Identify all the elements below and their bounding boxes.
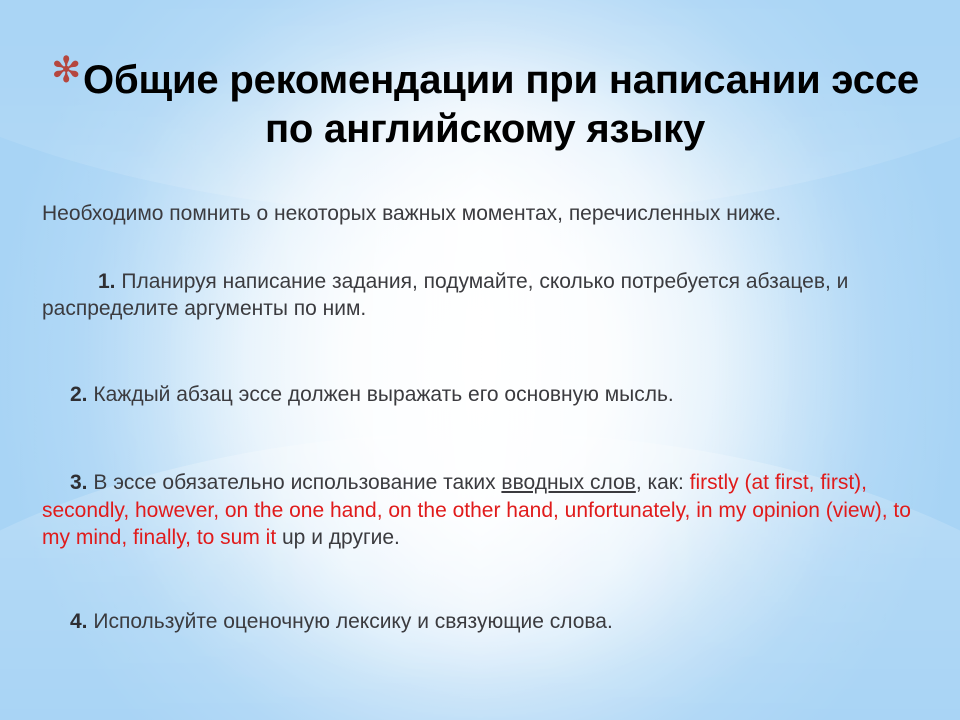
intro-paragraph: Необходимо помнить о некоторых важных мо… [42, 200, 918, 228]
item-3-tail-text: up и другие. [276, 526, 400, 549]
slide-body: Необходимо помнить о некоторых важных мо… [42, 200, 918, 636]
spacer-after-item-3 [42, 552, 918, 608]
list-item-2: 2. Каждый абзац эссе должен выражать его… [42, 381, 918, 409]
title-line-1: Общие рекомендации при написании эссе [83, 58, 919, 102]
item-3-number: 3. [70, 471, 88, 494]
item-3-mid-text: , как: [636, 471, 690, 494]
item-4-text: Используйте оценочную лексику и связующи… [93, 610, 612, 633]
slide-title: ✻Общие рекомендации при написании эссе п… [40, 52, 930, 155]
item-2-text: Каждый абзац эссе должен выражать его ос… [93, 383, 673, 406]
title-line-1-wrapper: ✻Общие рекомендации при написании эссе [40, 52, 930, 105]
spacer-after-item-2 [42, 409, 918, 469]
item-3-underlined-term: вводных слов [501, 471, 635, 494]
item-1-number: 1. [98, 270, 116, 293]
title-line-2: по английскому языку [40, 105, 930, 155]
item-1-text: Планируя написание задания, подумайте, с… [42, 270, 848, 321]
asterisk-bullet-icon: ✻ [51, 52, 81, 88]
presentation-slide: ✻Общие рекомендации при написании эссе п… [0, 0, 960, 720]
item-2-number: 2. [70, 383, 88, 406]
spacer-after-item-1 [42, 323, 918, 381]
list-item-4: 4. Используйте оценочную лексику и связу… [42, 608, 918, 636]
slide-content: ✻Общие рекомендации при написании эссе п… [0, 0, 960, 720]
list-item-3: 3. В эссе обязательно использование таки… [42, 469, 918, 552]
item-4-number: 4. [70, 610, 88, 633]
item-3-lead-text: В эссе обязательно использование таких [93, 471, 501, 494]
list-item-1: 1. Планируя написание задания, подумайте… [42, 268, 918, 323]
